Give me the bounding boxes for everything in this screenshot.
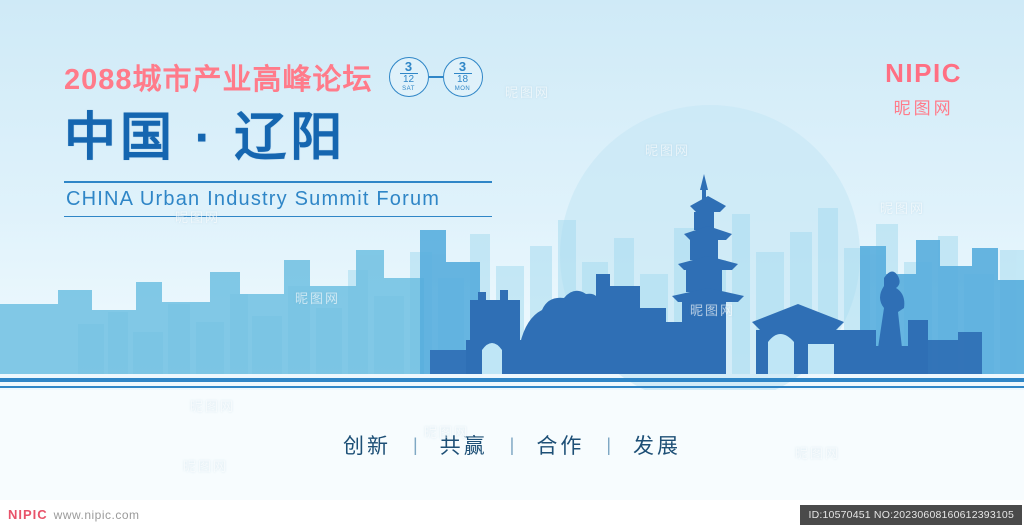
poster-artwork: 2088城市产业高峰论坛 3 12 SAT 3 <box>0 0 1024 500</box>
end-month: 3 <box>459 61 466 72</box>
water-line-1 <box>0 378 1024 382</box>
slogan-divider: | <box>510 435 515 456</box>
subtitle-block: CHINA Urban Industry Summit Forum <box>64 181 492 217</box>
slogan-divider: | <box>413 435 418 456</box>
city-name: 中国 · 辽阳 <box>64 110 684 167</box>
date-chip-start: 3 12 SAT <box>389 57 429 97</box>
subtitle-rule-bottom <box>64 216 492 218</box>
slogan-item: 共赢 <box>440 430 488 460</box>
start-weekday: SAT <box>402 85 415 93</box>
brand-name-en: NIPIC <box>885 58 962 89</box>
start-month: 3 <box>405 61 412 72</box>
footer-meta: ID:10570451 NO:20230608160612393105 <box>800 505 1022 525</box>
subtitle-en: CHINA Urban Industry Summit Forum <box>64 183 492 216</box>
brand-name-cn: 昵图网 <box>885 94 962 119</box>
date-range-dash <box>429 76 443 78</box>
headline-block: 2088城市产业高峰论坛 3 12 SAT 3 <box>64 56 684 217</box>
event-title: 2088城市产业高峰论坛 <box>64 56 373 98</box>
poster-image: 2088城市产业高峰论坛 3 12 SAT 3 <box>0 0 1024 529</box>
end-day: 18 <box>457 75 468 85</box>
slogan-row: 创新 | 共赢 | 合作 | 发展 <box>0 430 1024 460</box>
slogan-item: 创新 <box>343 430 391 460</box>
date-group: 3 12 SAT 3 18 MON <box>389 57 483 97</box>
slogan-item: 合作 <box>536 430 584 460</box>
start-day: 12 <box>403 75 414 85</box>
end-weekday: MON <box>455 85 471 93</box>
footer-brand-name: NIPIC <box>8 507 48 522</box>
footer-brand: NIPIC www.nipic.com <box>0 507 140 522</box>
date-chip-end: 3 18 MON <box>443 57 483 97</box>
water-line-2 <box>0 386 1024 388</box>
slogan-divider: | <box>606 435 611 456</box>
footer-url: www.nipic.com <box>54 508 140 522</box>
footer-bar: NIPIC www.nipic.com ID:10570451 NO:20230… <box>0 500 1024 529</box>
brand-logo: NIPIC 昵图网 <box>885 58 962 119</box>
title-row: 2088城市产业高峰论坛 3 12 SAT 3 <box>64 56 684 98</box>
slogan-item: 发展 <box>633 430 681 460</box>
